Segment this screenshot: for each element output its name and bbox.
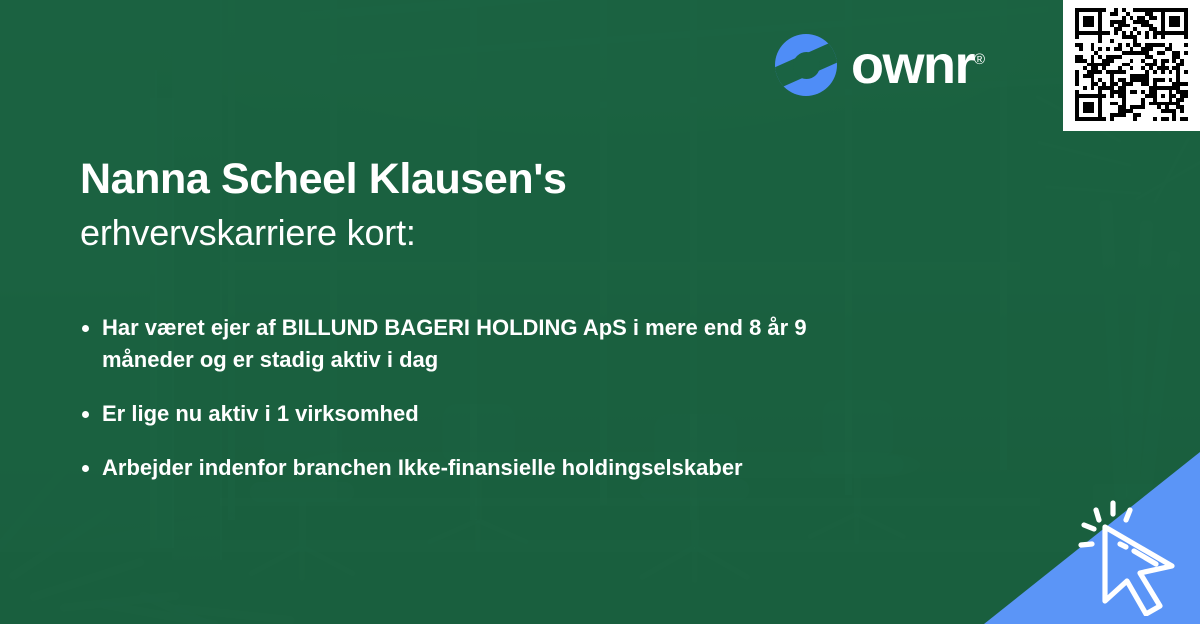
qr-code[interactable] (1075, 8, 1188, 121)
career-fact-item: Har været ejer af BILLUND BAGERI HOLDING… (80, 312, 892, 376)
ownr-wordmark: ownr® (851, 38, 985, 92)
career-facts-list: Har været ejer af BILLUND BAGERI HOLDING… (80, 312, 980, 506)
headline-name: Nanna Scheel Klausen's (80, 155, 960, 204)
headline-subtitle: erhvervskarriere kort: (80, 210, 960, 255)
ownr-logo[interactable]: ownr® (775, 34, 985, 96)
ownr-career-card: ownr® Nanna Scheel Klausen's erhvervskar… (0, 0, 1200, 624)
page-title: Nanna Scheel Klausen's erhvervskarriere … (80, 155, 960, 255)
ownr-wordmark-text: ownr (851, 35, 974, 95)
qr-code-panel[interactable] (1063, 0, 1200, 131)
career-fact-item: Arbejder indenfor branchen Ikke-finansie… (80, 452, 892, 484)
registered-trademark-icon: ® (974, 51, 985, 68)
ownr-swoosh-icon (775, 34, 837, 96)
click-cursor-icon (1068, 498, 1186, 616)
career-fact-item: Er lige nu aktiv i 1 virksomhed (80, 398, 892, 430)
